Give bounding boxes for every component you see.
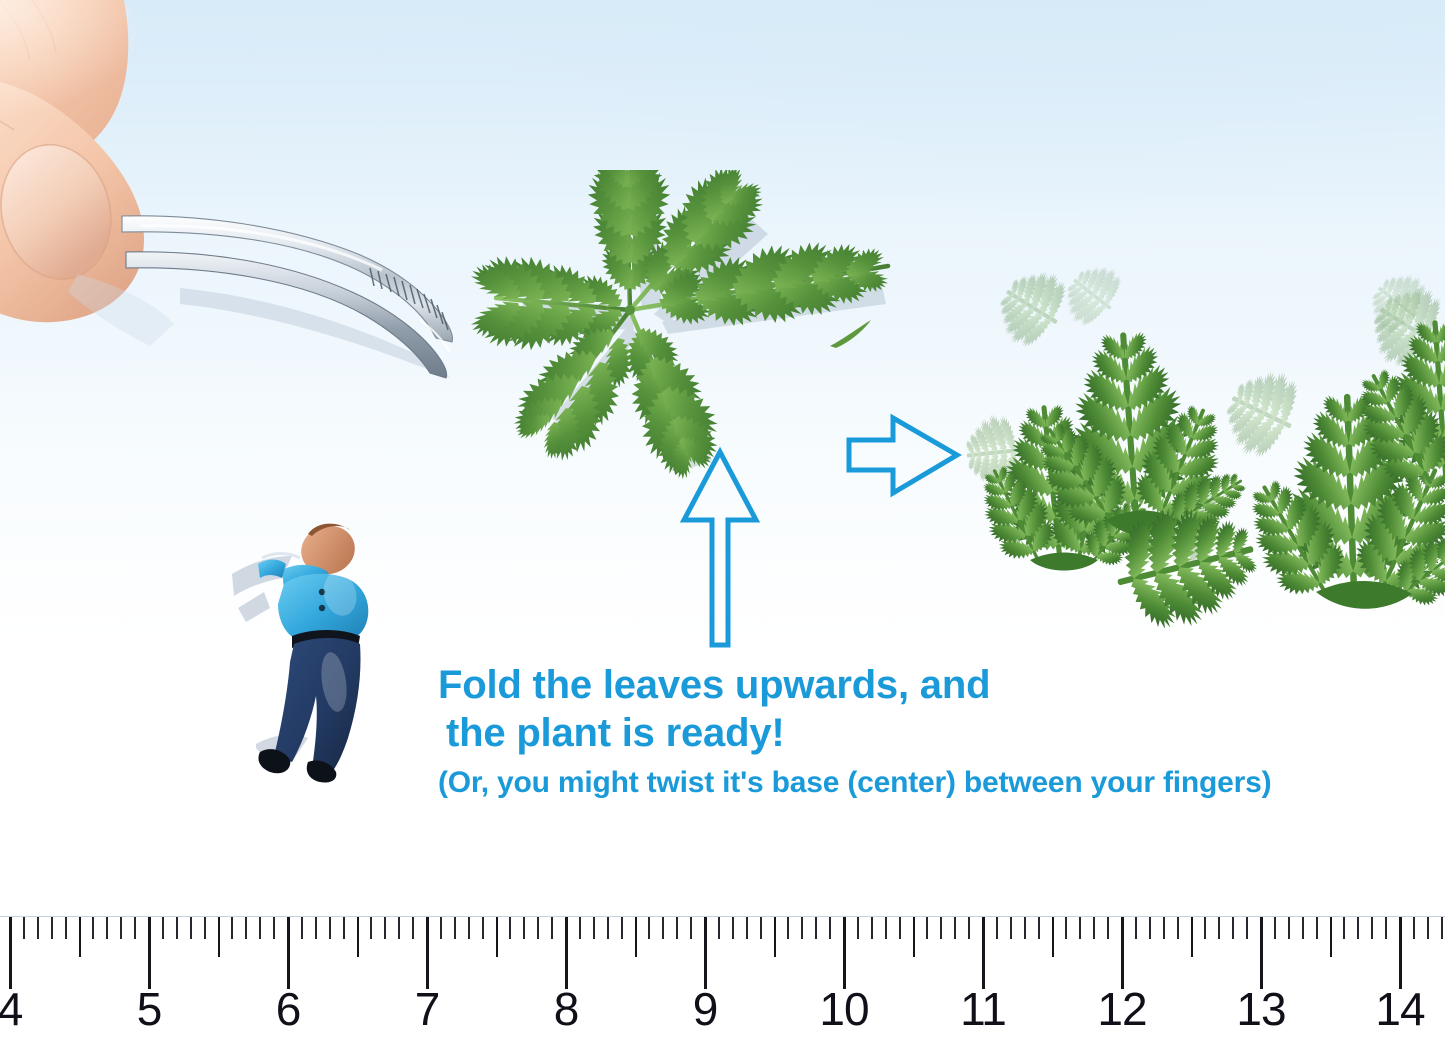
ruler-tick-mm: [899, 917, 901, 939]
loose-leaf-fragment: [828, 318, 873, 350]
ruler-tick-mm: [106, 917, 108, 939]
ruler-tick-mm: [954, 917, 956, 939]
ruler-tick-cm: [704, 917, 707, 989]
ruler: 4567891011121314: [0, 890, 1445, 1061]
ruler-label-9: 9: [693, 986, 718, 1032]
ruler-tick-mm: [926, 917, 928, 939]
ruler-tick-mm: [343, 917, 345, 939]
ruler-tick-5mm: [496, 917, 498, 957]
frond-base-center: [625, 305, 635, 315]
skin-highlight: [0, 0, 140, 124]
ruler-tick-mm: [523, 917, 525, 939]
ruler-tick-mm: [857, 917, 859, 939]
ruler-tick-cm: [287, 917, 290, 989]
ruler-tick-5mm: [774, 917, 776, 957]
ruler-tick-mm: [468, 917, 470, 939]
ruler-tick-mm: [760, 917, 762, 939]
ruler-tick-mm: [1038, 917, 1040, 939]
ruler-tick-mm: [1135, 917, 1137, 939]
ruler-tick-mm: [1010, 917, 1012, 939]
ruler-tick-mm: [607, 917, 609, 939]
ruler-tick-mm: [134, 917, 136, 939]
ruler-label-6: 6: [276, 986, 301, 1032]
ruler-label-7: 7: [415, 986, 440, 1032]
finished-fern-plants: [960, 230, 1445, 630]
ruler-tick-5mm: [635, 917, 637, 957]
ruler-tick-mm: [718, 917, 720, 939]
caption-line-3: (Or, you might twist it's base (center) …: [438, 763, 1366, 803]
ruler-tick-mm: [1302, 917, 1304, 939]
ruler-tick-mm: [273, 917, 275, 939]
ruler-label-13: 13: [1236, 986, 1285, 1032]
ruler-tick-mm: [732, 917, 734, 939]
ruler-tick-mm: [329, 917, 331, 939]
ruler-tick-cm: [148, 917, 151, 989]
ruler-tick-5mm: [357, 917, 359, 957]
ruler-label-4: 4: [0, 986, 22, 1032]
arrow-up-icon: [668, 440, 773, 655]
ruler-tick-mm: [1232, 917, 1234, 939]
ruler-tick-mm: [940, 917, 942, 939]
ruler-tick-mm: [120, 917, 122, 939]
ruler-tick-mm: [1288, 917, 1290, 939]
ruler-tick-mm: [370, 917, 372, 939]
ruler-tick-mm: [440, 917, 442, 939]
ruler-tick-mm: [384, 917, 386, 939]
ruler-tick-5mm: [1191, 917, 1193, 957]
ruler-tick-mm: [593, 917, 595, 939]
ruler-tick-5mm: [1330, 917, 1332, 957]
ruler-tick-mm: [1065, 917, 1067, 939]
ruler-tick-mm: [1177, 917, 1179, 939]
ruler-tick-mm: [1149, 917, 1151, 939]
ruler-tick-mm: [871, 917, 873, 939]
ruler-tick-5mm: [79, 917, 81, 957]
ruler-tick-mm: [676, 917, 678, 939]
ruler-tick-mm: [996, 917, 998, 939]
ruler-label-14: 14: [1375, 986, 1424, 1032]
ruler-tick-cm: [9, 917, 12, 989]
ruler-tick-mm: [1316, 917, 1318, 939]
ruler-tick-mm: [746, 917, 748, 939]
ruler-tick-mm: [801, 917, 803, 939]
ruler-tick-mm: [829, 917, 831, 939]
ruler-tick-mm: [509, 917, 511, 939]
ruler-tick-mm: [204, 917, 206, 939]
ruler-tick-mm: [259, 917, 261, 939]
ruler-tick-mm: [537, 917, 539, 939]
ruler-tick-mm: [690, 917, 692, 939]
ruler-tick-mm: [315, 917, 317, 939]
ruler-tick-mm: [1441, 917, 1443, 939]
ruler-tick-mm: [1413, 917, 1415, 939]
ruler-tick-mm: [1274, 917, 1276, 939]
ruler-tick-mm: [1093, 917, 1095, 939]
ruler-label-5: 5: [137, 986, 162, 1032]
ruler-tick-cm: [1260, 917, 1263, 989]
ruler-tick-mm: [648, 917, 650, 939]
fern-plant-a-base: [1030, 553, 1098, 571]
ruler-tick-mm: [37, 917, 39, 939]
caption-line-2: the plant is ready!: [446, 709, 1366, 757]
ruler-tick-mm: [968, 917, 970, 939]
ruler-tick-mm: [1246, 917, 1248, 939]
ruler-tick-mm: [231, 917, 233, 939]
miniature-figure: [212, 512, 412, 802]
ruler-tick-mm: [301, 917, 303, 939]
ruler-label-10: 10: [819, 986, 868, 1032]
ruler-tick-mm: [1079, 917, 1081, 939]
ruler-label-12: 12: [1097, 986, 1146, 1032]
ruler-tick-mm: [1427, 917, 1429, 939]
ruler-tick-mm: [1024, 917, 1026, 939]
ruler-tick-mm: [787, 917, 789, 939]
instructional-photo: Fold the leaves upwards, and the plant i…: [0, 0, 1445, 1061]
ruler-tick-mm: [162, 917, 164, 939]
ruler-tick-mm: [662, 917, 664, 939]
ruler-tick-mm: [815, 917, 817, 939]
ruler-tick-mm: [579, 917, 581, 939]
ruler-tick-mm: [245, 917, 247, 939]
ruler-tick-cm: [982, 917, 985, 989]
arrow-right-icon: [845, 408, 965, 503]
ruler-tick-mm: [176, 917, 178, 939]
ruler-tick-mm: [412, 917, 414, 939]
ruler-tick-cm: [565, 917, 568, 989]
ruler-tick-mm: [51, 917, 53, 939]
ruler-tick-5mm: [218, 917, 220, 957]
ruler-tick-mm: [1385, 917, 1387, 939]
ruler-tick-mm: [92, 917, 94, 939]
ruler-tick-cm: [426, 917, 429, 989]
ruler-tick-cm: [1399, 917, 1402, 989]
ruler-tick-mm: [1218, 917, 1220, 939]
ruler-tick-mm: [65, 917, 67, 939]
ruler-tick-mm: [190, 917, 192, 939]
ruler-tick-mm: [482, 917, 484, 939]
ruler-tick-mm: [885, 917, 887, 939]
ruler-tick-mm: [551, 917, 553, 939]
ruler-tick-mm: [1163, 917, 1165, 939]
ruler-tick-mm: [1371, 917, 1373, 939]
caption-block: Fold the leaves upwards, and the plant i…: [436, 661, 1366, 803]
ruler-tick-5mm: [913, 917, 915, 957]
ruler-tick-cm: [843, 917, 846, 989]
ruler-tick-5mm: [1052, 917, 1054, 957]
ruler-tick-cm: [1121, 917, 1124, 989]
caption-line-1: Fold the leaves upwards, and: [438, 661, 1366, 709]
ruler-tick-mm: [398, 917, 400, 939]
ruler-tick-mm: [621, 917, 623, 939]
ruler-tick-mm: [1343, 917, 1345, 939]
ruler-label-11: 11: [960, 986, 1006, 1032]
ruler-tick-mm: [1204, 917, 1206, 939]
ruler-label-8: 8: [554, 986, 579, 1032]
ruler-tick-mm: [23, 917, 25, 939]
ruler-tick-mm: [1357, 917, 1359, 939]
ruler-tick-mm: [1107, 917, 1109, 939]
ruler-tick-mm: [454, 917, 456, 939]
